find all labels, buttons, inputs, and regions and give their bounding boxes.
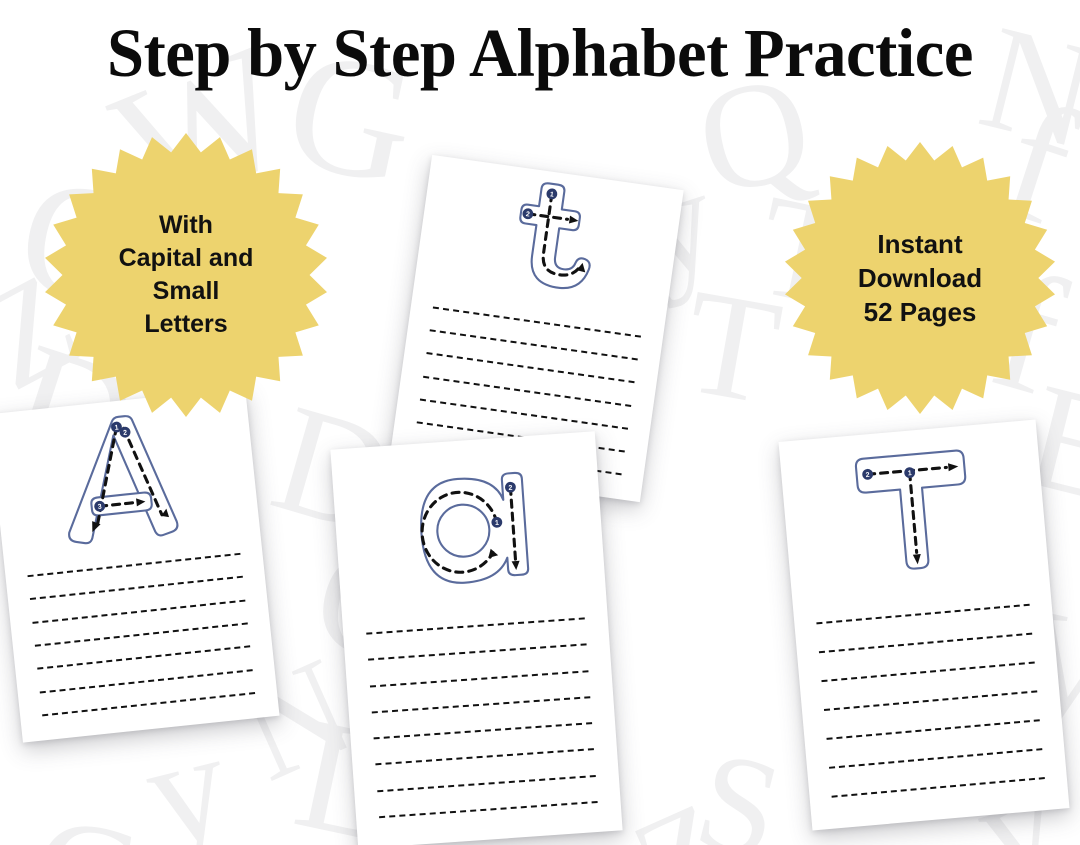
poster-canvas: WGNQfGyTZfDTEDZyGVNLyCyZS Step by Step A… — [0, 0, 1080, 845]
letter-trace-glyph-t: 1 2 — [414, 165, 682, 319]
practice-rule-line — [375, 748, 595, 765]
practice-rule-lines — [342, 603, 621, 831]
worksheet-card-body: 1 2 — [778, 419, 1069, 830]
watermark-letter: S — [684, 729, 793, 845]
practice-rule-line — [30, 576, 243, 600]
practice-rule-line — [32, 599, 245, 623]
practice-rule-line — [373, 722, 593, 739]
watermark-letter: C — [22, 792, 147, 845]
practice-rule-line — [37, 646, 250, 670]
practice-rule-line — [824, 690, 1038, 711]
svg-text:1: 1 — [908, 470, 913, 477]
practice-rule-lines — [4, 539, 278, 729]
svg-text:1: 1 — [114, 424, 119, 431]
practice-rule-line — [369, 670, 589, 687]
practice-rule-line — [819, 632, 1033, 653]
worksheet-card-letter-a[interactable]: 1 2 — [330, 431, 622, 845]
svg-text:2: 2 — [123, 430, 128, 437]
practice-rule-line — [816, 603, 1030, 624]
practice-rule-line — [426, 352, 635, 383]
worksheet-card-body: 1 2 — [330, 431, 622, 845]
practice-rule-line — [371, 696, 591, 713]
practice-rule-line — [42, 692, 255, 716]
letter-trace-glyph-A: 1 2 3 — [0, 401, 260, 557]
badge-label: With Capital and Small Letters — [119, 209, 254, 341]
practice-rule-line — [27, 553, 240, 577]
practice-rule-line — [40, 669, 253, 693]
svg-text:2: 2 — [865, 472, 870, 479]
worksheet-card-body: 1 2 3 — [0, 387, 280, 742]
practice-rule-line — [377, 775, 597, 792]
practice-rule-line — [379, 801, 599, 818]
practice-rule-line — [419, 398, 628, 429]
practice-rule-line — [368, 644, 588, 661]
svg-text:1: 1 — [494, 520, 498, 527]
practice-rule-lines — [793, 587, 1068, 813]
instant-download-badge[interactable]: Instant Download 52 Pages — [784, 142, 1056, 414]
svg-text:2: 2 — [508, 485, 512, 492]
practice-rule-line — [826, 719, 1040, 740]
practice-rule-line — [366, 617, 586, 634]
practice-rule-line — [831, 777, 1045, 798]
worksheet-card-letter-T[interactable]: 1 2 — [778, 419, 1069, 830]
badge-label: Instant Download 52 Pages — [858, 227, 982, 330]
page-title: Step by Step Alphabet Practice — [19, 14, 1061, 93]
watermark-letter: Z — [615, 779, 750, 845]
practice-rule-line — [821, 661, 1035, 682]
worksheet-card-letter-A[interactable]: 1 2 3 — [0, 387, 280, 742]
with-capital-and-small-letters-badge[interactable]: With Capital and Small Letters — [44, 133, 328, 417]
svg-text:3: 3 — [97, 504, 102, 511]
practice-rule-line — [35, 622, 248, 646]
practice-rule-line — [829, 748, 1043, 769]
practice-rule-line — [429, 329, 638, 360]
practice-rule-line — [423, 375, 632, 406]
watermark-letter: T — [674, 265, 790, 429]
letter-trace-glyph-a: 1 2 — [332, 459, 605, 605]
letter-trace-glyph-T: 1 2 — [780, 437, 1049, 591]
